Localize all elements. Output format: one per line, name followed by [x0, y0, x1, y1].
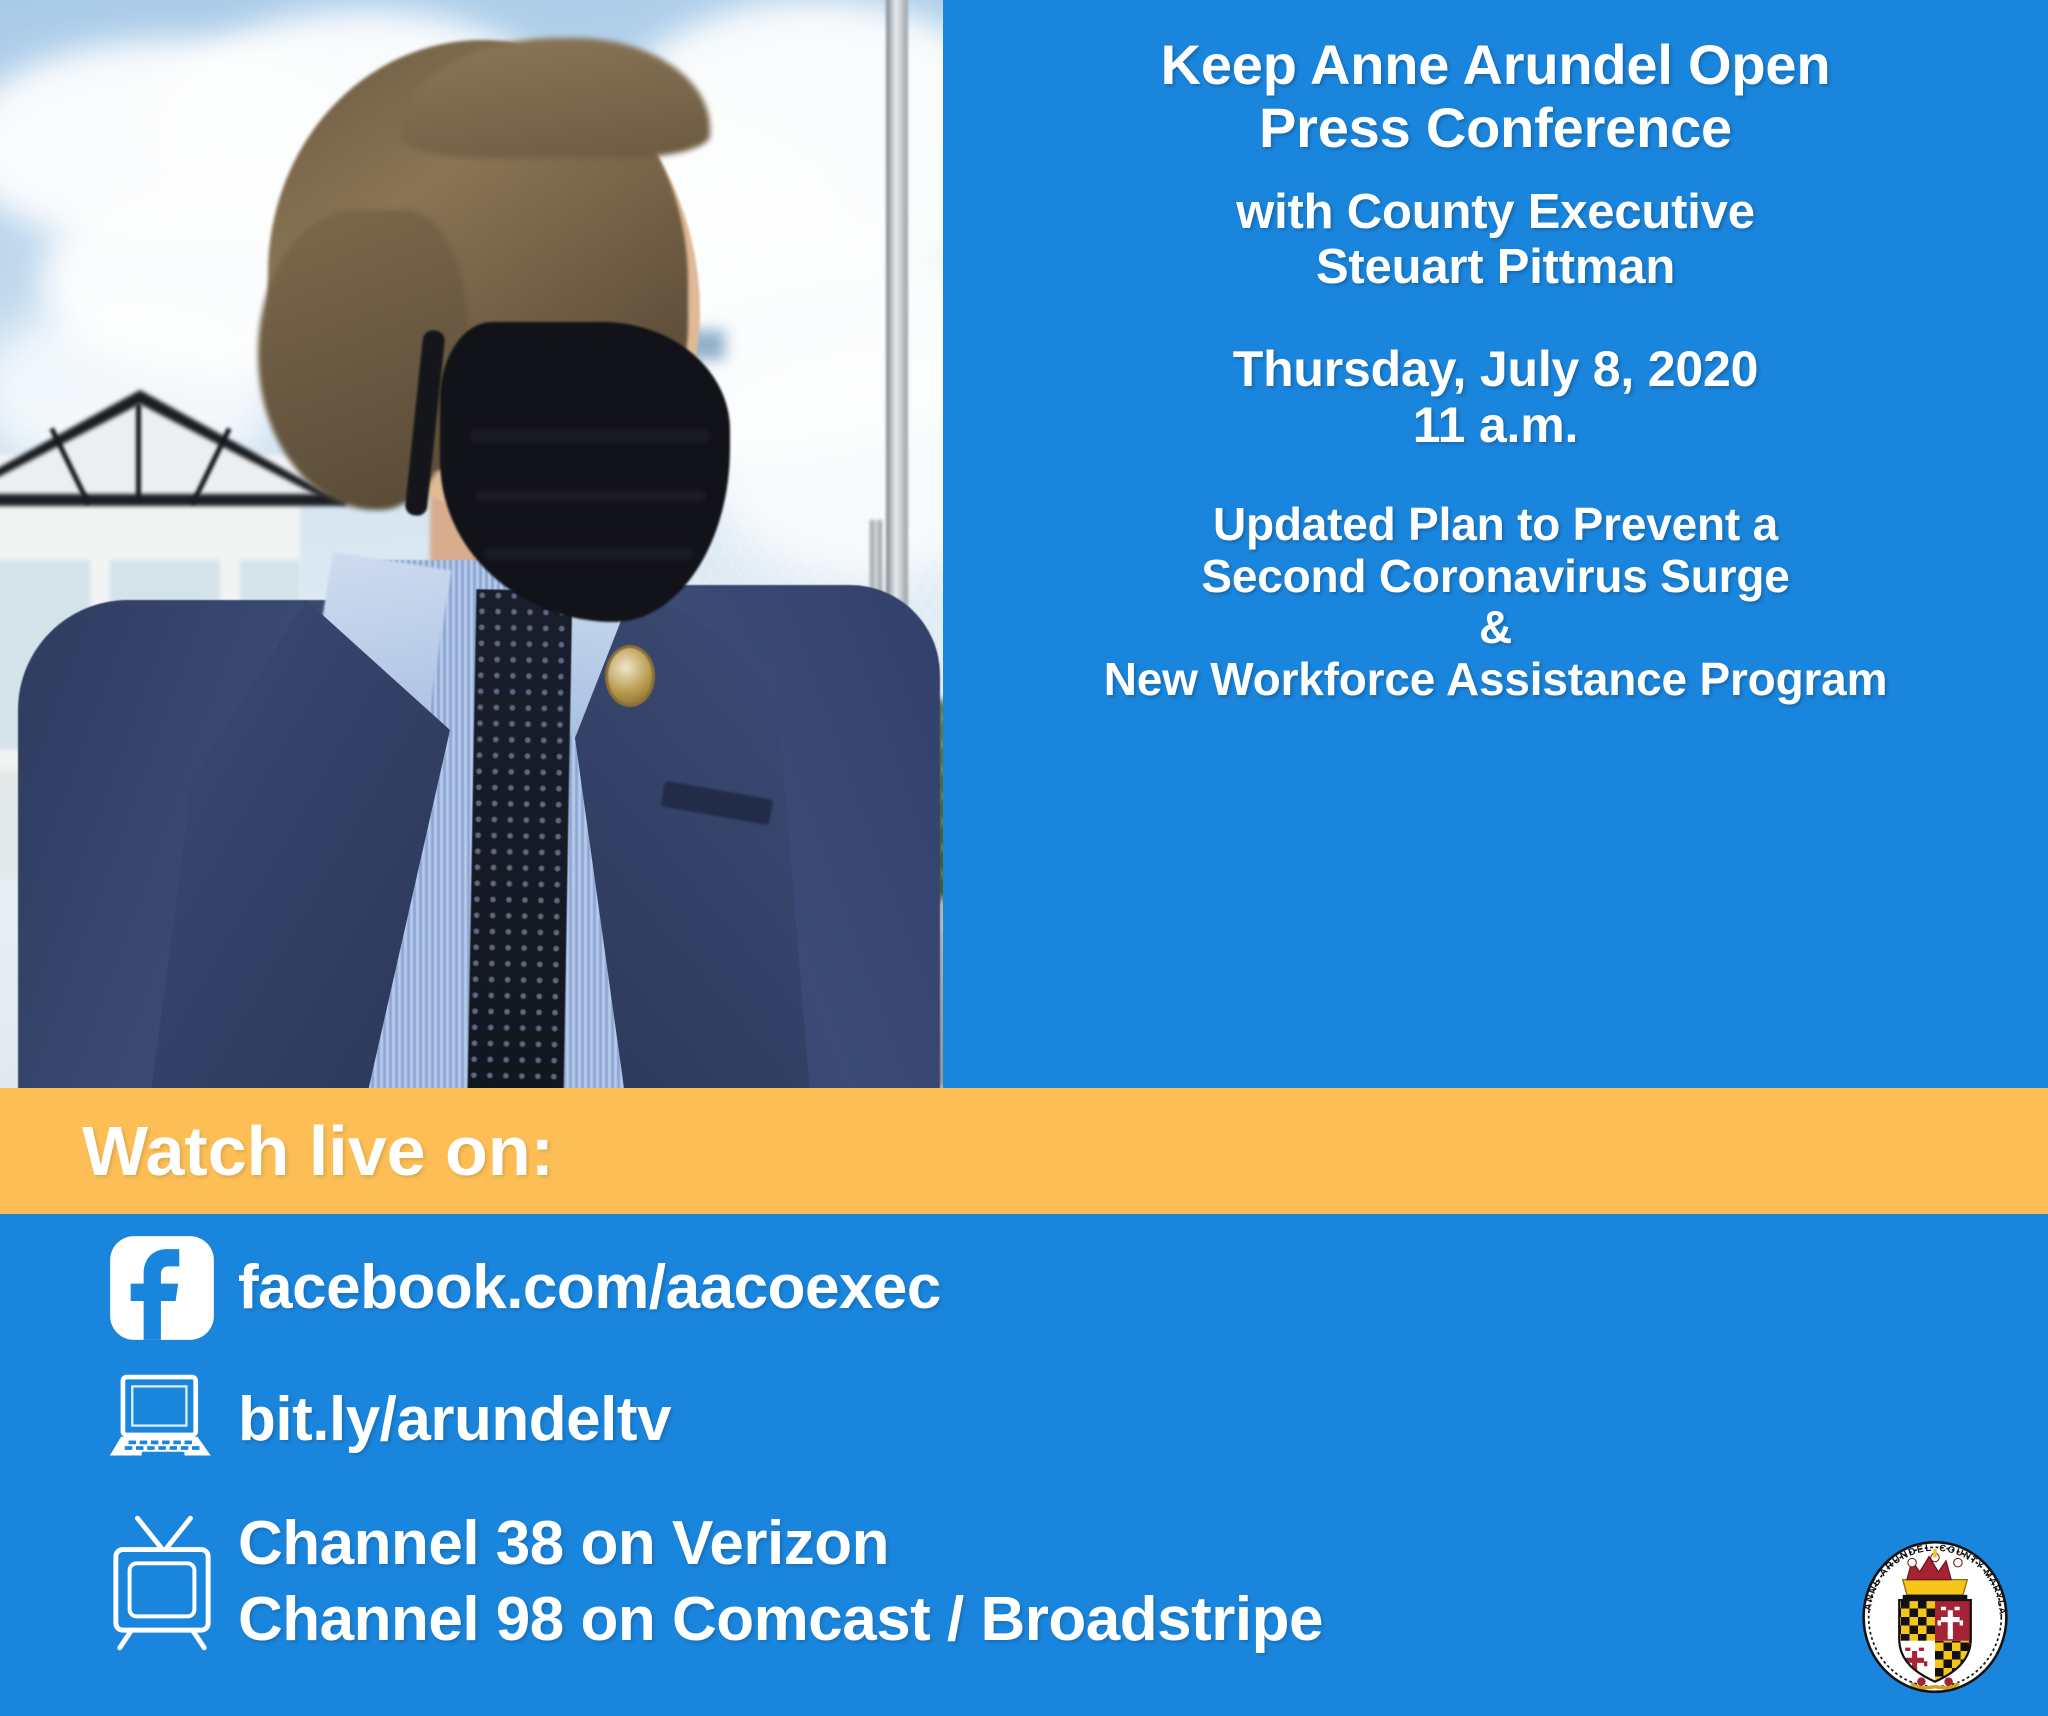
event-topic-line-2: Second Coronavirus Surge: [943, 551, 2048, 603]
event-title-line-2: Press Conference: [943, 97, 2048, 160]
event-date: Thursday, July 8, 2020: [943, 341, 2048, 397]
event-title-line-1: Keep Anne Arundel Open: [943, 34, 2048, 97]
watch-option-stream[interactable]: bit.ly/arundeltv: [108, 1368, 671, 1472]
tv-channel-comcast[interactable]: Channel 98 on Comcast / Broadstripe: [238, 1582, 1323, 1658]
facebook-url[interactable]: facebook.com/aacoexec: [238, 1250, 941, 1326]
mask-fold: [470, 430, 710, 442]
event-topic-line-3: &: [943, 602, 2048, 654]
watch-live-band: Watch live on:: [0, 1088, 2048, 1214]
event-subtitle-line-2: Steuart Pittman: [943, 240, 2048, 295]
anne-arundel-county-seal-icon: ANNE ARUNDEL COUNTY MARYLAND: [1850, 1532, 2020, 1702]
stream-url[interactable]: bit.ly/arundeltv: [238, 1382, 671, 1458]
event-topic-line-1: Updated Plan to Prevent a: [943, 499, 2048, 551]
watch-option-facebook[interactable]: facebook.com/aacoexec: [108, 1234, 941, 1342]
lapel-pin-icon: [608, 648, 652, 704]
press-conference-flyer: Keep Anne Arundel Open Press Conference …: [0, 0, 2048, 1716]
event-time: 11 a.m.: [943, 397, 2048, 453]
watch-live-label: Watch live on:: [82, 1116, 554, 1186]
event-details-panel: Keep Anne Arundel Open Press Conference …: [943, 0, 2048, 1088]
tv-channel-verizon[interactable]: Channel 38 on Verizon: [238, 1506, 1323, 1582]
top-section: Keep Anne Arundel Open Press Conference …: [0, 0, 2048, 1088]
mask-fold: [476, 490, 706, 502]
necktie: [468, 589, 573, 1088]
person-figure: [0, 0, 943, 1088]
mask-fold: [484, 548, 694, 560]
facebook-icon: [108, 1234, 238, 1342]
watch-option-television[interactable]: Channel 38 on Verizon Channel 98 on Comc…: [108, 1506, 1323, 1657]
laptop-icon: [108, 1368, 238, 1472]
event-subtitle-line-1: with County Executive: [943, 185, 2048, 240]
event-topic-line-4: New Workforce Assistance Program: [943, 654, 2048, 706]
watch-options-section: facebook.com/aacoexec: [0, 1214, 2048, 1716]
television-icon: [108, 1512, 238, 1652]
press-conference-photo: [0, 0, 943, 1088]
